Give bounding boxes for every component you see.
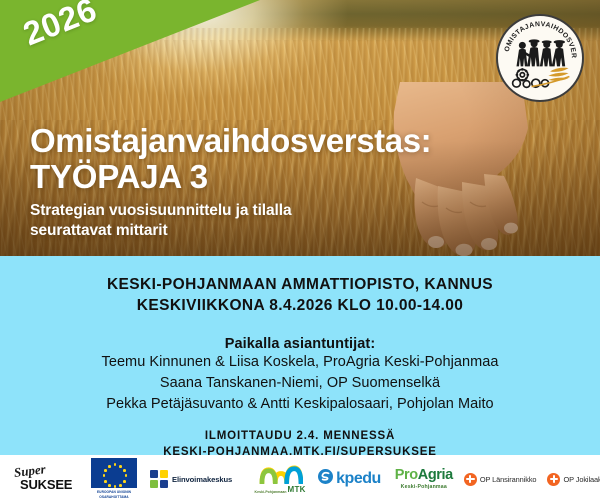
kpedu-wordmark: kpedu [336,470,381,488]
event-info-panel: KESKI-POHJANMAAN AMMATTIOPISTO, KANNUS K… [0,256,600,455]
mtk-mark-icon [254,465,306,484]
expert-list-item: Teemu Kinnunen & Liisa Koskela, ProAgria… [0,352,600,373]
expert-list-item: Saana Tanskanen-Niemi, OP Suomenselkä [0,373,600,394]
op-jokilaaksot-logo: OP Jokilaaksot [547,473,600,486]
hero-text-block: Omistajanvaihdosverstas: TYÖPAJA 3 Strat… [30,124,575,240]
eu-funding-logo: EUROOPAN UNIONIN OSARAHOITTAMA [88,458,140,499]
eu-flag-icon [91,458,137,488]
signup-deadline: ILMOITTAUDU 2.4. MENNESSÄ [0,428,600,444]
proagria-region-label: Keski-Pohjanmaa [395,484,453,490]
poster-title-line2: TYÖPAJA 3 [30,160,575,195]
expert-list-item: Pekka Petäjäsuvanto & Antti Keskipalosaa… [0,394,600,415]
op-bank-label: OP Jokilaaksot [563,475,600,484]
omistajanvaihdosverstas-logo: OMISTAJANVAIHDOSVERSTAS [496,14,584,102]
sponsor-logo-bar: Super SUKSEE EUROOPAN UNIONIN OSARAHOITT… [0,455,600,503]
supersuksee-bold-text: SUKSEE [20,477,72,492]
poster-subtitle-line2: seurattavat mittarit [30,221,575,240]
hero-photo-area: 2026 OMISTAJANVAIHDOSVERSTAS [0,0,600,256]
op-lansirannikko-logo: OP Länsirannikko [464,473,537,486]
supersuksee-logo: Super SUKSEE [14,463,74,495]
proagria-pro-text: Pro [395,467,418,483]
poster-title-line1: Omistajanvaihdosverstas: [30,124,575,159]
mtk-logo: Keski-Pohjanmaan MTK [254,465,306,494]
op-bank-label: OP Länsirannikko [480,475,537,484]
op-cross-icon [547,473,560,486]
elinvoimakeskus-logo: Elinvoimakeskus [150,470,232,488]
venue-line-2: KESKIVIIKKONA 8.4.2026 KLO 10.00-14.00 [0,295,600,316]
elinvoimakeskus-mark-icon [150,470,168,488]
proagria-logo: ProAgria Keski-Pohjanmaa [395,468,453,490]
proagria-agria-text: Agria [418,467,453,483]
poster-subtitle-line1: Strategian vuosisuunnittelu ja tilalla [30,201,575,220]
mtk-region-label: Keski-Pohjanmaan [255,490,287,494]
elinvoimakeskus-label: Elinvoimakeskus [172,475,232,484]
op-cross-icon [464,473,477,486]
event-poster: 2026 OMISTAJANVAIHDOSVERSTAS [0,0,600,503]
mtk-wordmark: MTK [287,485,305,494]
eu-caption-line2: OSARAHOITTAMA [88,495,140,500]
kpedu-logo: kpedu [318,469,381,489]
venue-line-1: KESKI-POHJANMAAN AMMATTIOPISTO, KANNUS [0,274,600,295]
kpedu-swirl-icon [318,469,333,489]
experts-heading: Paikalla asiantuntijat: [0,336,600,352]
